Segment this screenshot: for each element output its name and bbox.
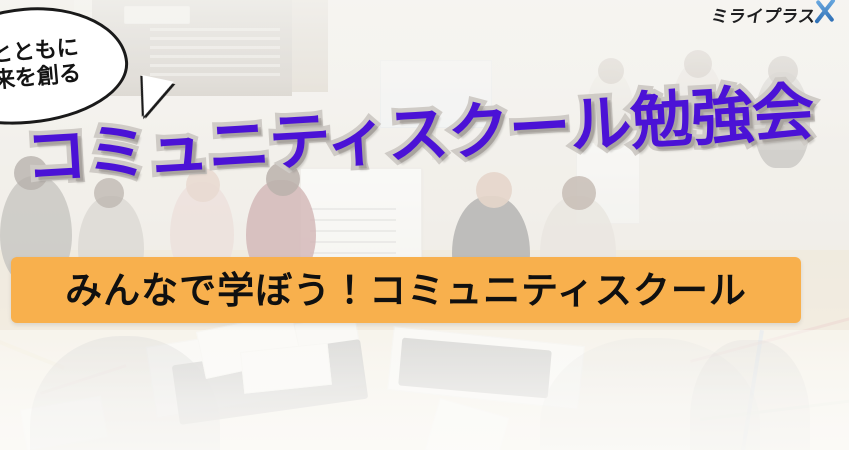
speech-bubble-line-2: 未来を創る: [0, 61, 82, 96]
subtitle-text: みんなで学ぼう！コミュニティスクール: [65, 272, 747, 309]
x-star-icon: [810, 0, 840, 26]
subtitle-bar: みんなで学ぼう！コミュニティスクール: [11, 257, 801, 323]
brand-logo-text: ミライプラス: [710, 9, 817, 26]
brand-logo[interactable]: ミライプラス: [711, 8, 840, 26]
event-banner: ミライプラス 域とともに 未来を創る コミュニティスクール勉強会 みんなで学ぼう…: [0, 0, 849, 450]
